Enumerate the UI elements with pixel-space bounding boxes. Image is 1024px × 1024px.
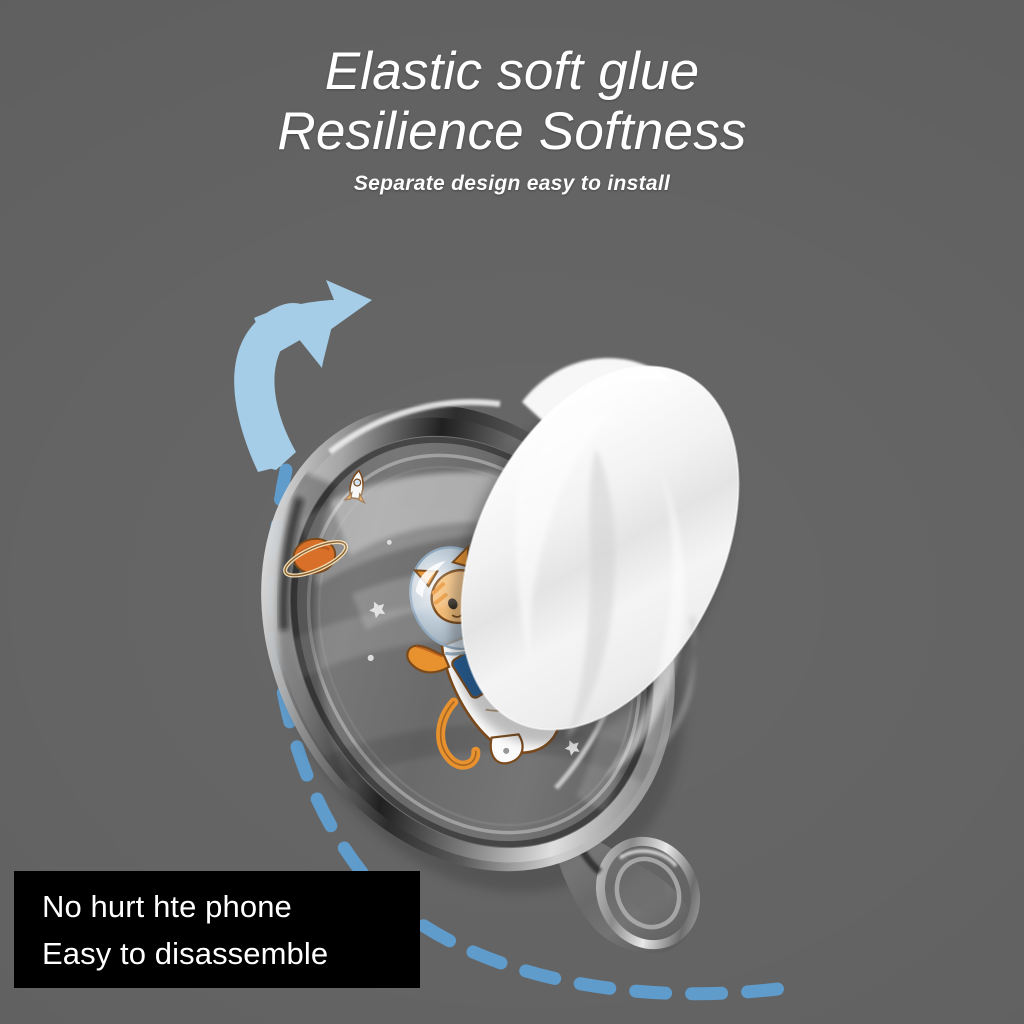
caption-line-2: Easy to disassemble: [42, 930, 420, 977]
headline-line-1: Elastic soft glue: [0, 44, 1024, 100]
headline-line-2: Resilience Softness: [0, 104, 1024, 160]
headline-subtitle: Separate design easy to install: [0, 172, 1024, 196]
headline-block: Elastic soft glue Resilience Softness: [0, 44, 1024, 160]
caption-line-1: No hurt hte phone: [42, 883, 420, 930]
feature-caption-box: No hurt hte phone Easy to disassemble: [14, 871, 420, 988]
product-marketing-image: Elastic soft glue Resilience Softness Se…: [0, 0, 1024, 1024]
